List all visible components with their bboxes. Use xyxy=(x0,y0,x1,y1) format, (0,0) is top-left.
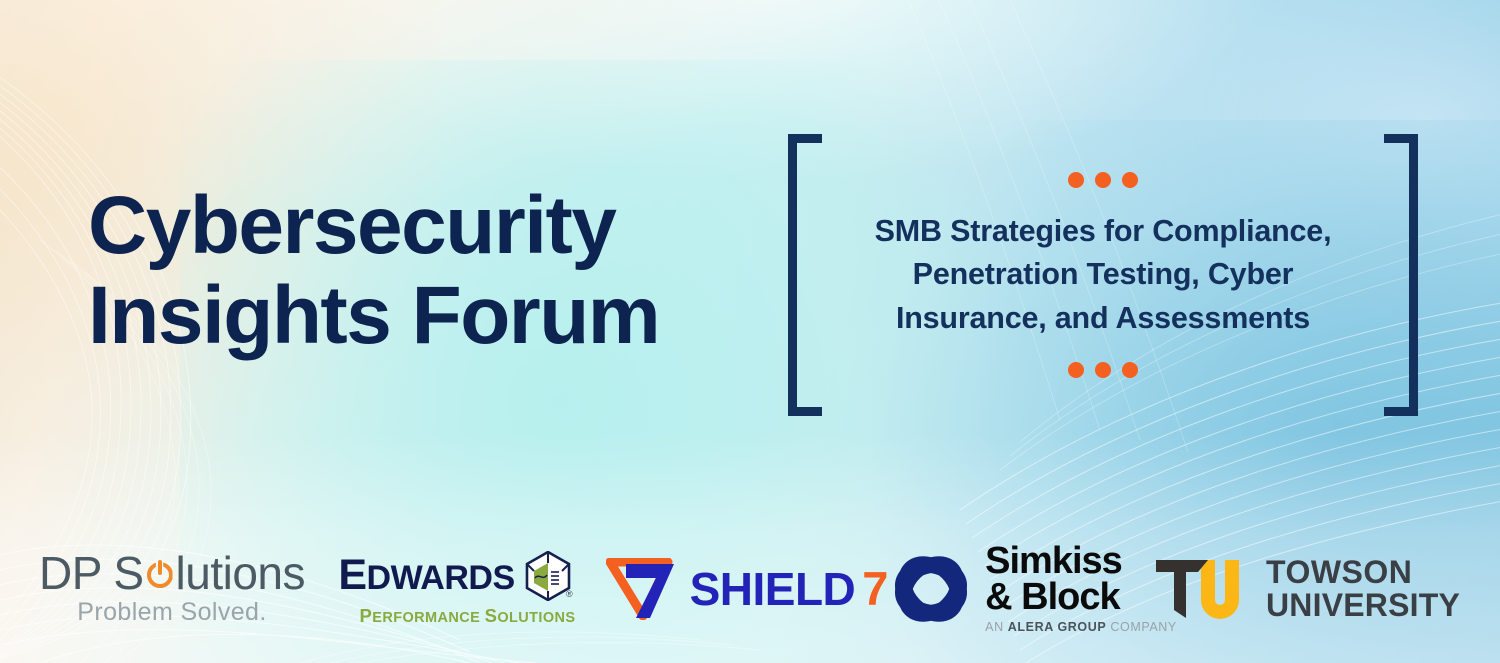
edwards-tagline-olutions: OLUTIONS xyxy=(497,610,575,626)
logo-shield7[interactable]: SHIELD 7 xyxy=(587,558,907,620)
towson-line-2: UNIVERSITY xyxy=(1266,589,1460,622)
towson-line-1: TOWSON xyxy=(1266,556,1460,589)
shield-seven-icon xyxy=(606,558,684,620)
edwards-tagline-s: S xyxy=(485,605,498,626)
cube-icon: ® xyxy=(525,551,571,601)
edwards-wordmark: EDWARDS xyxy=(338,554,514,597)
dot-row-top xyxy=(1068,172,1138,188)
logo-edwards[interactable]: EDWARDS ® PER xyxy=(322,551,587,627)
dot-icon xyxy=(1095,362,1111,378)
subtitle-line-3: Insurance, and Assessments xyxy=(875,297,1332,340)
logo-towson-university[interactable]: TOWSON UNIVERSITY xyxy=(1157,554,1457,624)
tu-monogram-icon xyxy=(1154,554,1252,624)
shield7-wordmark: SHIELD xyxy=(690,566,856,612)
dot-icon xyxy=(1068,172,1084,188)
event-banner: Cybersecurity Insights Forum SMB Strateg… xyxy=(0,0,1500,663)
power-button-icon xyxy=(145,559,175,589)
title-line-1: Cybersecurity xyxy=(88,186,788,266)
dp-solutions-text-after: lutions xyxy=(176,550,305,596)
simkiss-tagline: AN ALERA GROUP COMPANY xyxy=(985,620,1177,634)
dp-solutions-tagline: Problem Solved. xyxy=(77,598,266,627)
edwards-rest: DWARDS xyxy=(367,559,515,597)
registered-mark-icon: ® xyxy=(566,589,573,599)
simkiss-tagline-pre: AN xyxy=(985,620,1008,634)
dot-row-bottom xyxy=(1068,362,1138,378)
title-line-2: Insights Forum xyxy=(88,276,788,356)
dot-icon xyxy=(1095,172,1111,188)
logo-simkiss-block[interactable]: Simkiss & Block AN ALERA GROUP COMPANY xyxy=(907,543,1157,634)
edwards-tagline-p: P xyxy=(360,605,373,626)
interlocking-rings-icon xyxy=(887,547,975,631)
subtitle-bracket-block: SMB Strategies for Compliance, Penetrati… xyxy=(788,134,1418,416)
shield7-seven: 7 xyxy=(862,565,888,612)
edwards-tagline: PERFORMANCE SOLUTIONS xyxy=(360,605,576,627)
simkiss-line-2: & Block xyxy=(985,579,1177,615)
subtitle: SMB Strategies for Compliance, Penetrati… xyxy=(875,210,1332,340)
dot-icon xyxy=(1068,362,1084,378)
subtitle-line-1: SMB Strategies for Compliance, xyxy=(875,210,1332,253)
logo-dp-solutions[interactable]: DP S lutions Problem Solved. xyxy=(22,550,322,627)
simkiss-tagline-bold: ALERA GROUP xyxy=(1008,620,1107,634)
dp-solutions-text-before: DP S xyxy=(39,550,144,596)
dp-solutions-wordmark: DP S lutions xyxy=(39,550,305,596)
sponsor-logo-row: DP S lutions Problem Solved. EDWARDS xyxy=(0,536,1500,641)
page-title: Cybersecurity Insights Forum xyxy=(88,186,788,357)
bracket-right-icon xyxy=(1384,134,1418,416)
dot-icon xyxy=(1122,172,1138,188)
edwards-tagline-erformance: ERFORMANCE xyxy=(372,610,484,626)
subtitle-line-2: Penetration Testing, Cyber xyxy=(875,253,1332,296)
edwards-cap: E xyxy=(338,551,366,599)
simkiss-line-1: Simkiss xyxy=(985,543,1177,579)
bracket-left-icon xyxy=(788,134,822,416)
dot-icon xyxy=(1122,362,1138,378)
